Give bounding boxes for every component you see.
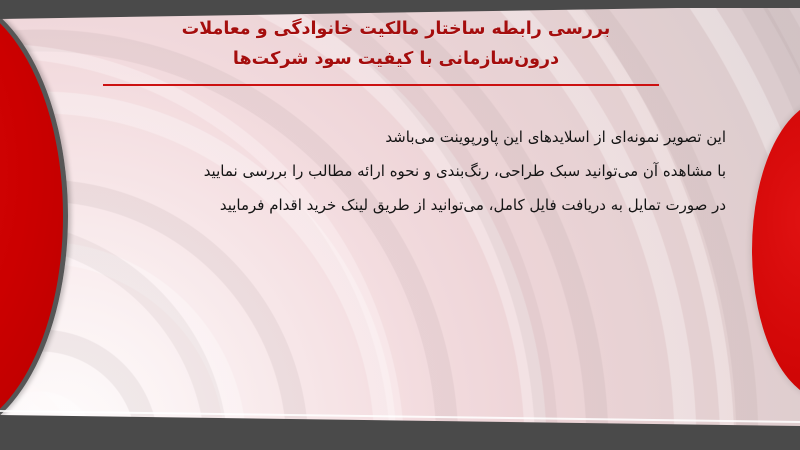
title-underline (103, 84, 659, 86)
slide-canvas: بررسی رابطه ساختار مالکیت خانوادگی و معا… (0, 8, 800, 428)
slide-body: این تصویر نمونه‌ای از اسلایدهای این پاور… (100, 120, 726, 222)
slide-title: بررسی رابطه ساختار مالکیت خانوادگی و معا… (100, 14, 692, 74)
presentation-slide: بررسی رابطه ساختار مالکیت خانوادگی و معا… (0, 0, 800, 450)
slide-title-line-2: درون‌سازمانی با کیفیت سود شرکت‌ها (100, 44, 692, 74)
slide-body-line-2: با مشاهده آن می‌توانید سبک طراحی، رنگ‌بن… (100, 154, 726, 188)
slide-frame-bottom (0, 427, 800, 450)
slide-title-line-1: بررسی رابطه ساختار مالکیت خانوادگی و معا… (100, 14, 692, 44)
slide-body-line-3: در صورت تمایل به دریافت فایل کامل، می‌تو… (100, 188, 726, 222)
slide-body-line-1: این تصویر نمونه‌ای از اسلایدهای این پاور… (100, 120, 726, 154)
